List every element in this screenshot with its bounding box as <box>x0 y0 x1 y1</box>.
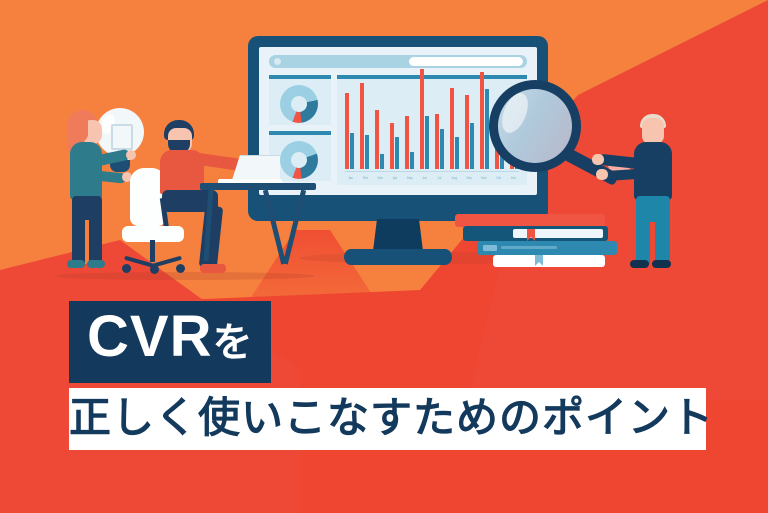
desk-top <box>200 183 316 190</box>
chart-bar <box>450 88 454 169</box>
chart-bar <box>350 133 354 169</box>
bar-group <box>345 93 354 169</box>
monitor-neck <box>373 219 423 251</box>
man-with-magnifier <box>626 112 696 277</box>
chart-bar <box>410 152 414 169</box>
chart-tick-label: Jul <box>434 173 445 183</box>
chart-bar <box>470 123 474 169</box>
browser-address-bar[interactable] <box>269 55 527 68</box>
bar-group <box>360 83 369 169</box>
headline-secondary-box: 正しく使いこなすためのポイント <box>69 388 706 450</box>
chart-bar <box>380 154 384 169</box>
woman-hand-upper <box>126 150 136 160</box>
book-label <box>483 245 497 251</box>
bar-group <box>435 114 444 169</box>
search-input[interactable] <box>409 57 523 66</box>
headline-latin: CVR <box>87 304 212 369</box>
man-shoe <box>200 264 226 273</box>
chart-tick-label: Jan <box>345 173 356 183</box>
card-header-bar <box>269 131 331 135</box>
chart-bar <box>435 114 439 169</box>
chart-bar <box>390 123 394 169</box>
chart-tick-label: Apr <box>389 173 400 183</box>
book-white <box>493 255 605 267</box>
book-label-line <box>501 246 557 249</box>
book-teal <box>477 241 617 255</box>
bar-group <box>465 95 474 169</box>
woman-leg-gap <box>85 220 89 264</box>
headline-line-1: CVRを <box>87 305 253 375</box>
headline-primary-box: CVRを <box>69 301 271 383</box>
bar-group <box>405 116 414 169</box>
browser-dot-icon <box>274 58 281 65</box>
book-navy <box>463 226 608 241</box>
chart-bar <box>365 135 369 169</box>
chart-bar <box>405 116 409 169</box>
chart-bar <box>465 95 469 169</box>
card-header-bar <box>269 75 331 79</box>
chart-bar <box>425 116 429 169</box>
chart-bar <box>395 137 399 169</box>
chart-header-bar <box>337 75 527 79</box>
laptop <box>218 155 282 185</box>
headline-kana: を <box>212 321 253 365</box>
chart-bar <box>455 137 459 169</box>
book-pages <box>513 229 603 238</box>
bar-group <box>390 123 399 169</box>
chart-bar <box>420 69 424 169</box>
chart-bar <box>345 93 349 169</box>
chart-tick-label: Feb <box>360 173 371 183</box>
chart-bar <box>360 83 364 169</box>
man2-shoe-right <box>652 260 671 268</box>
chart-bar <box>440 129 444 169</box>
bar-group <box>450 88 459 169</box>
chart-tick-label: Jun <box>419 173 430 183</box>
chart-tick-label: May <box>404 173 415 183</box>
man2-face <box>642 118 664 144</box>
chart-bar <box>480 72 484 169</box>
magnifier-lens <box>498 89 572 163</box>
man2-shoe-left <box>630 260 649 268</box>
magnifying-glass <box>489 80 629 185</box>
donut-card-top <box>269 75 331 125</box>
book-stack <box>455 214 620 276</box>
donut-chart-top <box>280 85 318 123</box>
woman-shoe-right <box>87 260 105 268</box>
bar-group <box>420 69 429 169</box>
chart-tick-label: Sep <box>464 173 475 183</box>
chart-tick-label: Aug <box>449 173 460 183</box>
donut-chart-bottom <box>280 141 318 179</box>
laptop-screen <box>232 155 282 182</box>
chart-tick-label: Mar <box>375 173 386 183</box>
monitor-base <box>344 249 452 265</box>
man2-hand-lower <box>596 169 608 180</box>
bar-group <box>480 72 489 169</box>
bar-group <box>375 110 384 169</box>
man2-hand-upper <box>592 154 604 165</box>
man2-leg-gap <box>650 222 655 264</box>
chart-tick-label: Nov <box>478 173 489 183</box>
bookmark-icon <box>527 229 535 241</box>
headline-line-2: 正しく使いこなすためのポイント <box>69 394 706 442</box>
woman-hair-front <box>68 112 88 142</box>
woman-shoe-left <box>67 260 85 268</box>
chair-wheel <box>122 264 131 273</box>
banner-root: JanFebMarAprMayJunJulAugSepNovOctDec <box>0 0 768 513</box>
bookmark-icon <box>535 255 543 266</box>
chart-bar <box>375 110 379 169</box>
